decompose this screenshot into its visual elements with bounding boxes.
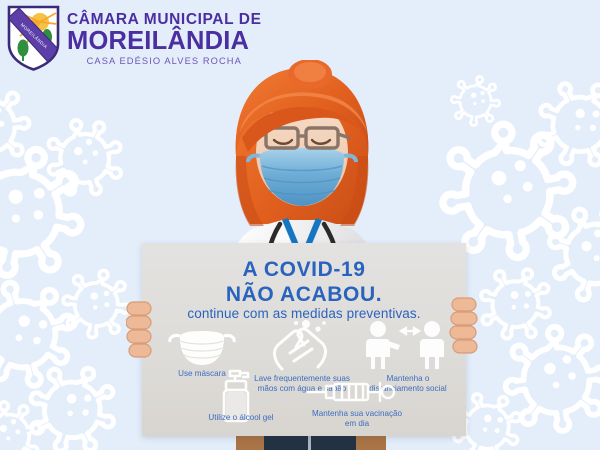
headline-line-2: NÃO ACABOU. [142, 283, 466, 308]
tip-label-vaccine: Mantenha sua vacinação em dia [294, 409, 420, 429]
logo-text-block: CÂMARA MUNICIPAL DE MOREILÂNDIA CASA EDÉ… [67, 9, 262, 66]
poster-canvas: MOREILÂNDIA CÂMARA MUNICIPAL DE MOREILÂN… [0, 0, 600, 450]
tip-label-sanitizer: Utilize o álcool gel [180, 413, 302, 423]
protest-sign: A COVID-19 NÃO ACABOU. continue com as m… [142, 243, 466, 436]
logo-line-1: CÂMARA MUNICIPAL DE [67, 12, 262, 28]
washing-hands-icon [262, 317, 338, 378]
municipal-logo: MOREILÂNDIA CÂMARA MUNICIPAL DE MOREILÂN… [6, 4, 262, 72]
right-hand [449, 296, 479, 371]
logo-line-3: CASA EDÉSIO ALVES ROCHA [67, 57, 262, 66]
tip-vaccine-line-2: em dia [294, 419, 420, 429]
tip-sanitizer-line-1: Utilize o álcool gel [180, 413, 302, 423]
coat-of-arms-icon: MOREILÂNDIA [6, 4, 61, 72]
syringe-icon [306, 379, 398, 410]
tip-vaccine-line-1: Mantenha sua vacinação [294, 409, 420, 419]
social-distancing-icon [360, 319, 452, 376]
left-hand [126, 300, 152, 371]
headline-line-1: A COVID-19 [142, 258, 466, 283]
logo-line-2: MOREILÂNDIA [67, 29, 262, 55]
sign-headline: A COVID-19 NÃO ACABOU. [142, 258, 466, 308]
